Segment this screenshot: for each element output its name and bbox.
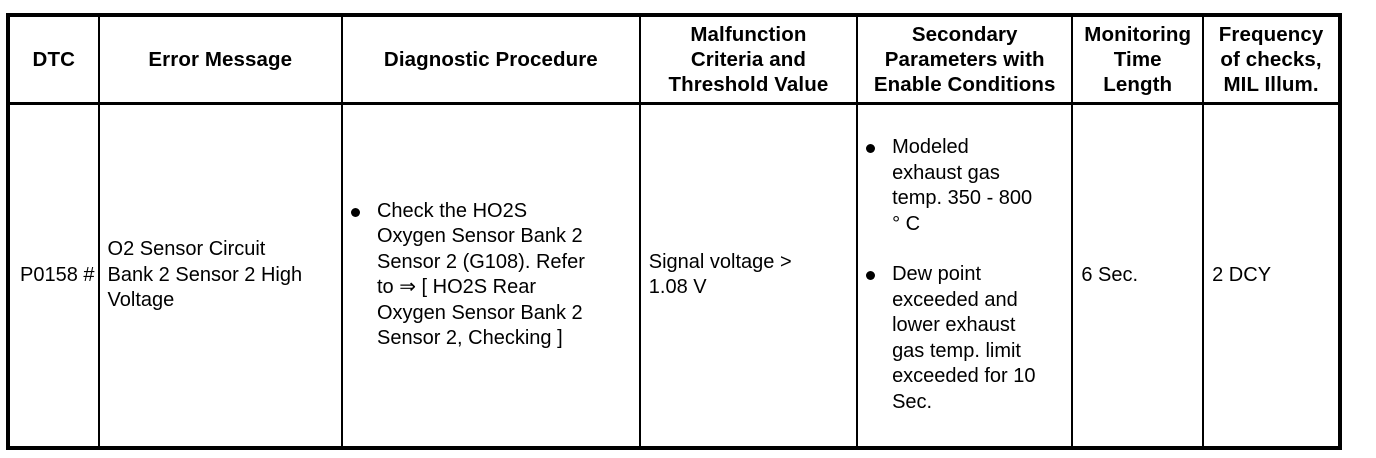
column-header-frequency-of-checks: Frequency of checks, MIL Illum. <box>1203 15 1340 103</box>
column-header-frequency-of-checks-line-2: of checks, <box>1204 47 1338 72</box>
error-message-wrap: O2 Sensor Circuit Bank 2 Sensor 2 High V… <box>100 237 341 314</box>
list-item: Modeled exhaust gas temp. 350 - 800 ° C <box>858 135 1071 237</box>
table-header: DTC Error Message Diagnostic Procedure M… <box>8 15 1340 103</box>
cell-secondary-parameters: Modeled exhaust gas temp. 350 - 800 ° C … <box>857 103 1072 448</box>
column-header-malfunction-criteria-line-2: Criteria and <box>641 47 856 72</box>
dtc-diagnostics-table: DTC Error Message Diagnostic Procedure M… <box>6 13 1342 450</box>
column-header-frequency-of-checks-line-1: Frequency <box>1204 22 1338 47</box>
secondary-parameters-list: Modeled exhaust gas temp. 350 - 800 ° C … <box>858 135 1071 415</box>
list-item: Dew point exceeded and lower exhaust gas… <box>858 262 1071 415</box>
secondary-parameter-1-line-4: ° C <box>892 212 1071 238</box>
cell-monitoring-time-length: 6 Sec. <box>1072 103 1203 448</box>
secondary-parameter-2-line-3: lower exhaust <box>892 313 1071 339</box>
malfunction-criteria-line-1: Signal voltage > <box>649 250 848 276</box>
diagnostic-procedure-line-3: Sensor 2 (G108). Refer <box>377 250 639 276</box>
column-header-malfunction-criteria-line-3: Threshold Value <box>641 72 856 97</box>
cell-error-message: O2 Sensor Circuit Bank 2 Sensor 2 High V… <box>99 103 342 448</box>
diagnostic-procedure-line-1: Check the HO2S <box>377 199 639 225</box>
column-header-malfunction-criteria-line-1: Malfunction <box>641 22 856 47</box>
error-message-line-3: Voltage <box>108 288 333 314</box>
diagnostic-procedure-line-5: Oxygen Sensor Bank 2 <box>377 301 639 327</box>
frequency-of-checks-value: 2 DCY <box>1212 263 1330 289</box>
list-item: Check the HO2S Oxygen Sensor Bank 2 Sens… <box>343 199 639 352</box>
document-page: DTC Error Message Diagnostic Procedure M… <box>0 0 1376 458</box>
column-header-malfunction-criteria: Malfunction Criteria and Threshold Value <box>640 15 857 103</box>
column-header-secondary-parameters-line-1: Secondary <box>858 22 1071 47</box>
column-header-secondary-parameters-line-3: Enable Conditions <box>858 72 1071 97</box>
error-message-line-1: O2 Sensor Circuit <box>108 237 333 263</box>
secondary-parameter-1-line-3: temp. 350 - 800 <box>892 186 1071 212</box>
dtc-value-wrap: P0158 # <box>10 263 98 289</box>
secondary-parameter-1-line-2: exhaust gas <box>892 161 1071 187</box>
column-header-monitoring-time-length-line-3: Length <box>1073 72 1202 97</box>
column-header-frequency-of-checks-line-3: MIL Illum. <box>1204 72 1338 97</box>
table-row: P0158 # O2 Sensor Circuit Bank 2 Sensor … <box>8 103 1340 448</box>
column-header-diagnostic-procedure: Diagnostic Procedure <box>342 15 640 103</box>
cell-malfunction-criteria: Signal voltage > 1.08 V <box>640 103 857 448</box>
column-header-error-message: Error Message <box>99 15 342 103</box>
malfunction-criteria-line-2: 1.08 V <box>649 275 848 301</box>
table-body: P0158 # O2 Sensor Circuit Bank 2 Sensor … <box>8 103 1340 448</box>
column-header-dtc: DTC <box>8 15 99 103</box>
column-header-error-message-line-1: Error Message <box>100 47 341 72</box>
column-header-secondary-parameters-line-2: Parameters with <box>858 47 1071 72</box>
malfunction-criteria-wrap: Signal voltage > 1.08 V <box>641 250 856 301</box>
cell-dtc: P0158 # <box>8 103 99 448</box>
secondary-parameter-2-line-4: gas temp. limit <box>892 339 1071 365</box>
header-row: DTC Error Message Diagnostic Procedure M… <box>8 15 1340 103</box>
error-message-line-2: Bank 2 Sensor 2 High <box>108 263 333 289</box>
column-header-secondary-parameters: Secondary Parameters with Enable Conditi… <box>857 15 1072 103</box>
diagnostic-procedure-line-6: Sensor 2, Checking ] <box>377 326 639 352</box>
column-header-monitoring-time-length: Monitoring Time Length <box>1072 15 1203 103</box>
diagnostic-procedure-line-4: to ⇒ [ HO2S Rear <box>377 275 639 301</box>
diagnostic-procedure-line-2: Oxygen Sensor Bank 2 <box>377 224 639 250</box>
monitoring-time-length-wrap: 6 Sec. <box>1073 263 1202 289</box>
column-header-monitoring-time-length-line-1: Monitoring <box>1073 22 1202 47</box>
column-header-monitoring-time-length-line-2: Time <box>1073 47 1202 72</box>
diagnostic-procedure-list: Check the HO2S Oxygen Sensor Bank 2 Sens… <box>343 199 639 352</box>
frequency-of-checks-wrap: 2 DCY <box>1204 263 1338 289</box>
column-header-diagnostic-procedure-line-1: Diagnostic Procedure <box>343 47 639 72</box>
secondary-parameter-2-line-6: Sec. <box>892 390 1071 416</box>
dtc-value: P0158 # <box>20 263 90 289</box>
cell-diagnostic-procedure: Check the HO2S Oxygen Sensor Bank 2 Sens… <box>342 103 640 448</box>
secondary-parameter-2-line-2: exceeded and <box>892 288 1071 314</box>
secondary-parameter-2-line-5: exceeded for 10 <box>892 364 1071 390</box>
monitoring-time-length-value: 6 Sec. <box>1081 263 1194 289</box>
cell-frequency-of-checks: 2 DCY <box>1203 103 1340 448</box>
column-header-dtc-line-1: DTC <box>10 47 98 72</box>
secondary-parameter-2-line-1: Dew point <box>892 262 1071 288</box>
secondary-parameter-1-line-1: Modeled <box>892 135 1071 161</box>
